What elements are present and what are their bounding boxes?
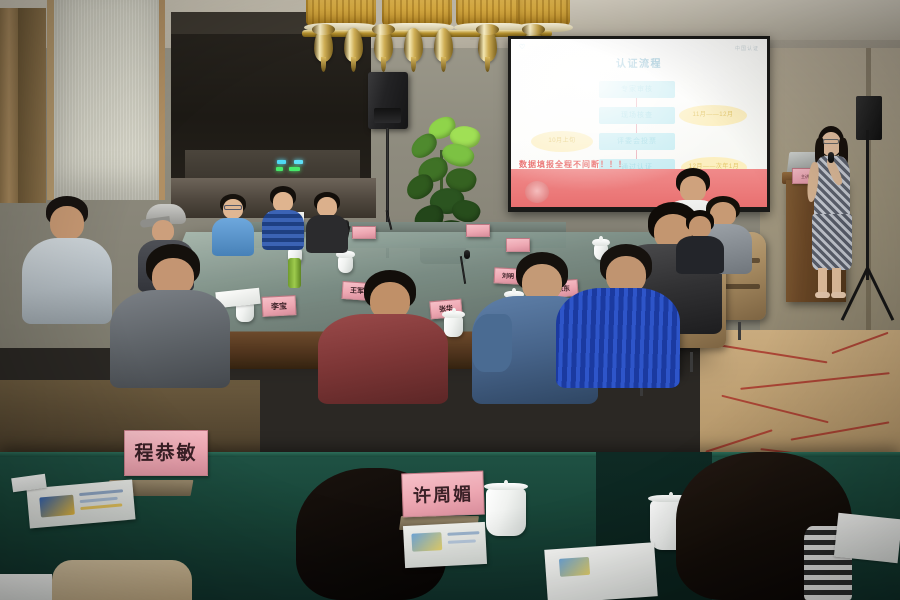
table-nameplate [506,238,530,252]
attendee-torso [110,290,230,388]
chair-leg [738,322,741,340]
carpet-pattern [791,421,890,440]
document [544,542,657,600]
chandelier-bead [372,24,395,35]
slide-ellipse-left: 10月上旬 [531,131,593,152]
microphone-icon [828,152,834,163]
flow-arrow [636,124,637,133]
foreground-attendee-right [676,452,852,600]
attendee-torso [556,288,680,388]
led-indicator-green [289,167,300,171]
chandelier-bead [312,24,335,35]
attendee-torso [318,314,448,404]
teacup-foreground [486,488,526,536]
slide-badge-icon [525,181,549,203]
attendee-head [317,197,337,217]
nameplate-foreground-left: 程恭敏 [124,430,208,476]
flow-arrow [636,98,637,107]
glasses-icon [823,139,839,144]
attendee-back [304,192,348,248]
carpet-pattern [721,395,828,424]
document-art [559,557,590,577]
slide-title: 认证流程 [511,55,767,70]
attendee-grey-polo [110,244,230,384]
flow-box-1: 专家审核 [599,81,675,98]
booklet-line [80,503,122,510]
chandelier-finial [344,28,363,62]
glasses-icon [224,205,242,210]
attendee-left-front [22,196,112,326]
attendee-torso [676,236,724,274]
presenter [806,126,860,302]
attendee-head [50,206,84,240]
wood-trim-left-inner [18,8,46,203]
attendee-torso [306,215,348,253]
chandelier-finial [434,28,453,62]
flow-arrow [636,150,637,159]
presenter-shoe [815,292,830,298]
led-indicator-blue [294,160,303,164]
attendee-head [152,220,174,242]
projection-screen: ♡ 中国认证 认证流程 专家审核 现场核查 评委会投票 通过认证 10月上旬 1… [511,39,767,207]
attendee-maroon [318,270,448,398]
table-nameplate: 李宝 [261,295,296,317]
table-nameplate [352,226,376,239]
booklet-line [447,531,479,536]
projection-screen-frame: ♡ 中国认证 认证流程 专家审核 现场核查 评委会投票 通过认证 10月上旬 1… [508,36,770,212]
tripod-pole [866,130,869,280]
slide-ellipse-right-upper: 11月——12月 [679,105,747,126]
attendee-torso [262,210,304,250]
booklet-line [80,497,118,503]
booklet-cover-art [39,495,75,518]
attendee-blue-stripe [556,244,680,384]
presenter-shoe [831,292,846,298]
attendee-torso [22,238,112,324]
chandelier-bead [522,24,545,35]
wood-trim-left-outer [0,8,18,203]
nameplate-foreground-right: 许周媚 [401,471,484,518]
chair-leg [690,352,693,372]
attendee-head [689,216,711,238]
led-indicator-green [276,167,283,171]
presenter-leg [832,268,841,294]
carpet-pattern [740,372,889,390]
document [834,513,900,563]
slide-logo-left: ♡ [519,43,525,51]
attendee-far-right-2 [676,210,724,270]
attendee-head [273,192,293,212]
attendee-back [262,186,304,246]
chair-armrest [52,560,192,600]
flow-box-3: 评委会投票 [599,133,675,150]
document [0,574,52,600]
booklet-line [79,489,123,496]
wall-fabric-panel [47,0,165,200]
booklet-cover-art [411,532,442,552]
presenter-leg [818,268,827,294]
booklet-line [448,539,476,543]
attendee-arm [472,314,512,372]
carpet-pattern [831,332,888,354]
conference-room-scene: ♡ 中国认证 认证流程 专家审核 现场核查 评委会投票 通过认证 10月上旬 1… [0,0,900,600]
microphone-head [464,250,470,259]
chandelier-finial [404,28,423,62]
chandelier-bead [476,24,499,35]
table-nameplate [466,224,490,237]
presenter-skirt [812,214,852,270]
carpet-pattern [709,343,828,364]
flow-box-2: 现场核查 [599,107,675,124]
booklet [403,522,487,568]
slide-logo-right: 中国认证 [735,45,759,52]
thermos-bottle [288,258,301,288]
led-indicator-blue [277,160,286,164]
